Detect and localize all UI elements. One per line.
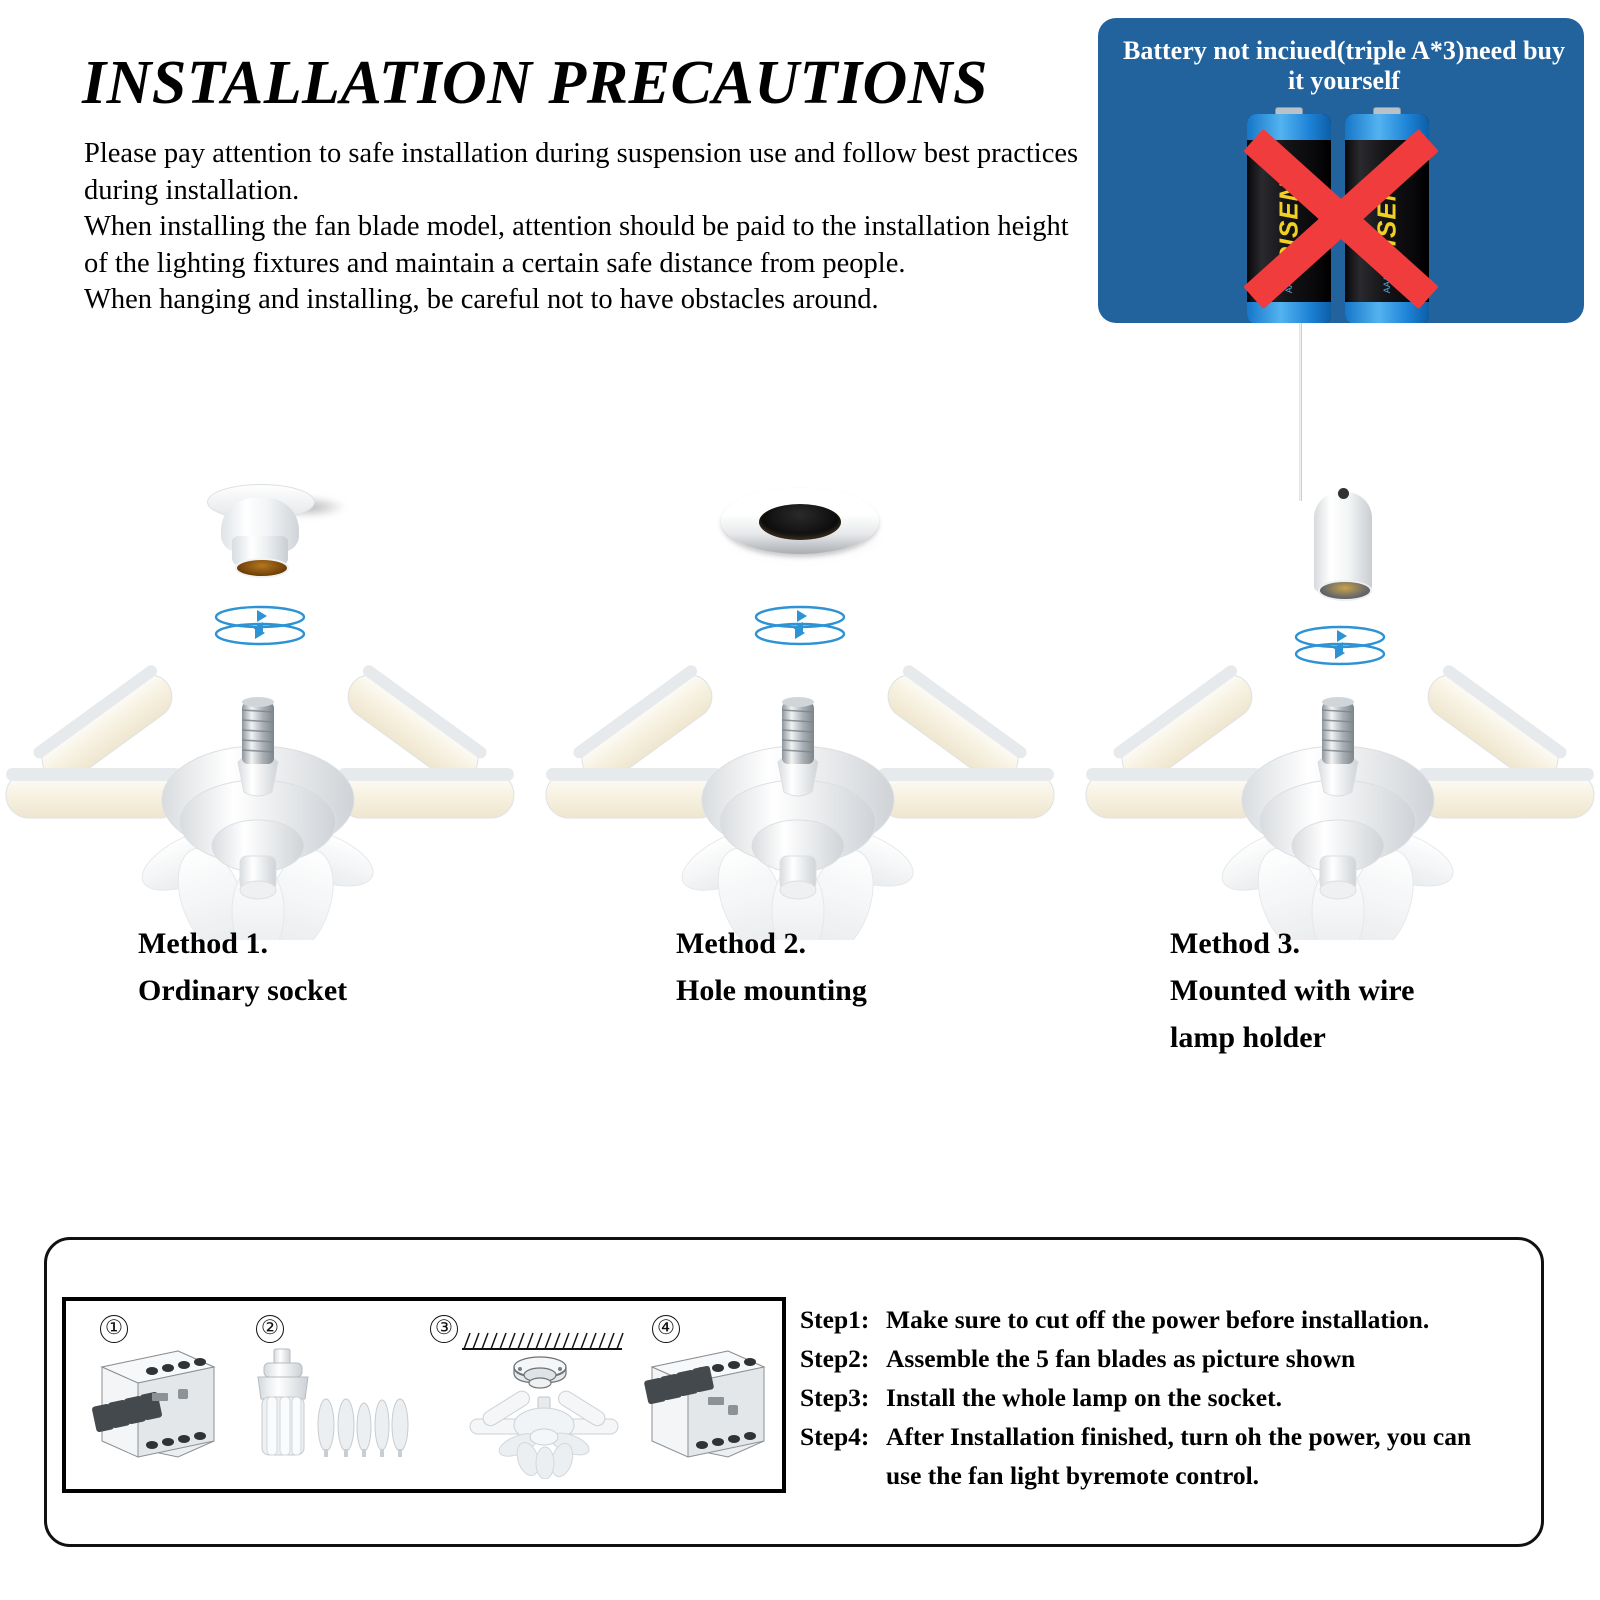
step-row: Step3: Install the whole lamp on the soc… (800, 1378, 1540, 1417)
step-2-text: Assemble the 5 fan blades as picture sho… (886, 1339, 1540, 1378)
step-4-text: After Installation finished, turn oh the… (886, 1417, 1540, 1456)
step-3-label: Step3: (800, 1378, 886, 1417)
rotate-arrows-icon (195, 600, 325, 652)
step-row: Step4: After Installation finished, turn… (800, 1417, 1540, 1456)
step-4-label: Step4: (800, 1417, 886, 1456)
method-1-number: Method 1. (138, 920, 347, 967)
intro-line-2: When installing the fan blade model, att… (84, 209, 1094, 282)
method-1-caption: Method 1. Ordinary socket (138, 920, 347, 1014)
step-4-text-continued: use the fan light byremote control. (886, 1456, 1540, 1495)
steps-list: Step1: Make sure to cut off the power be… (800, 1300, 1540, 1495)
part-4-circuit-breaker-on: ④ (626, 1301, 786, 1489)
step-3-text: Install the whole lamp on the socket. (886, 1378, 1540, 1417)
part-2-lamp-body-and-blades: ② (234, 1301, 424, 1489)
method-3-caption: Method 3. Mounted with wire lamp holder (1170, 920, 1414, 1061)
step-2-label: Step2: (800, 1339, 886, 1378)
method-2-number: Method 2. (676, 920, 867, 967)
part-1-number: ① (100, 1315, 128, 1343)
method-3-description: Mounted with wire (1170, 967, 1414, 1014)
intro-line-3: When hanging and installing, be careful … (84, 282, 1094, 319)
method-1-illustration (0, 470, 520, 940)
step-row: Step1: Make sure to cut off the power be… (800, 1300, 1540, 1339)
page-title: INSTALLATION PRECAUTIONS (82, 48, 988, 119)
method-3-number: Method 3. (1170, 920, 1414, 967)
intro-paragraph: Please pay attention to safe installatio… (84, 136, 1094, 319)
intro-line-1: Please pay attention to safe installatio… (84, 136, 1094, 209)
rotate-arrows-icon (735, 600, 865, 652)
part-4-number: ④ (652, 1315, 680, 1343)
red-cross-out-icon (1226, 110, 1456, 323)
part-3-ceiling-socket-and-fan-lamp: ③ (416, 1301, 646, 1489)
method-2-caption: Method 2. Hole mounting (676, 920, 867, 1014)
battery-warning-box: Battery not inciued(triple A*3)need buy … (1098, 18, 1584, 323)
step-1-text: Make sure to cut off the power before in… (886, 1300, 1540, 1339)
method-2-illustration (540, 470, 1060, 940)
step-row: Step2: Assemble the 5 fan blades as pict… (800, 1339, 1540, 1378)
method-3-description-2: lamp holder (1170, 1014, 1414, 1061)
fan-lamp-product (1080, 650, 1600, 940)
part-1-circuit-breaker: ① (66, 1301, 246, 1489)
pendant-holder-icon (1280, 470, 1400, 610)
installation-instruction-page: INSTALLATION PRECAUTIONS Please pay atte… (0, 0, 1600, 1600)
fan-lamp-product (0, 650, 520, 940)
method-2-description: Hole mounting (676, 967, 867, 1014)
method-1-description: Ordinary socket (138, 967, 347, 1014)
part-2-number: ② (256, 1315, 284, 1343)
recessed-ring-icon (715, 482, 885, 572)
fan-lamp-product (540, 650, 1060, 940)
step-1-label: Step1: (800, 1300, 886, 1339)
ceiling-socket-icon (195, 478, 325, 578)
parts-illustration-box: ① (62, 1297, 786, 1493)
method-3-illustration (1080, 470, 1600, 940)
battery-warning-text: Battery not inciued(triple A*3)need buy … (1118, 36, 1570, 96)
